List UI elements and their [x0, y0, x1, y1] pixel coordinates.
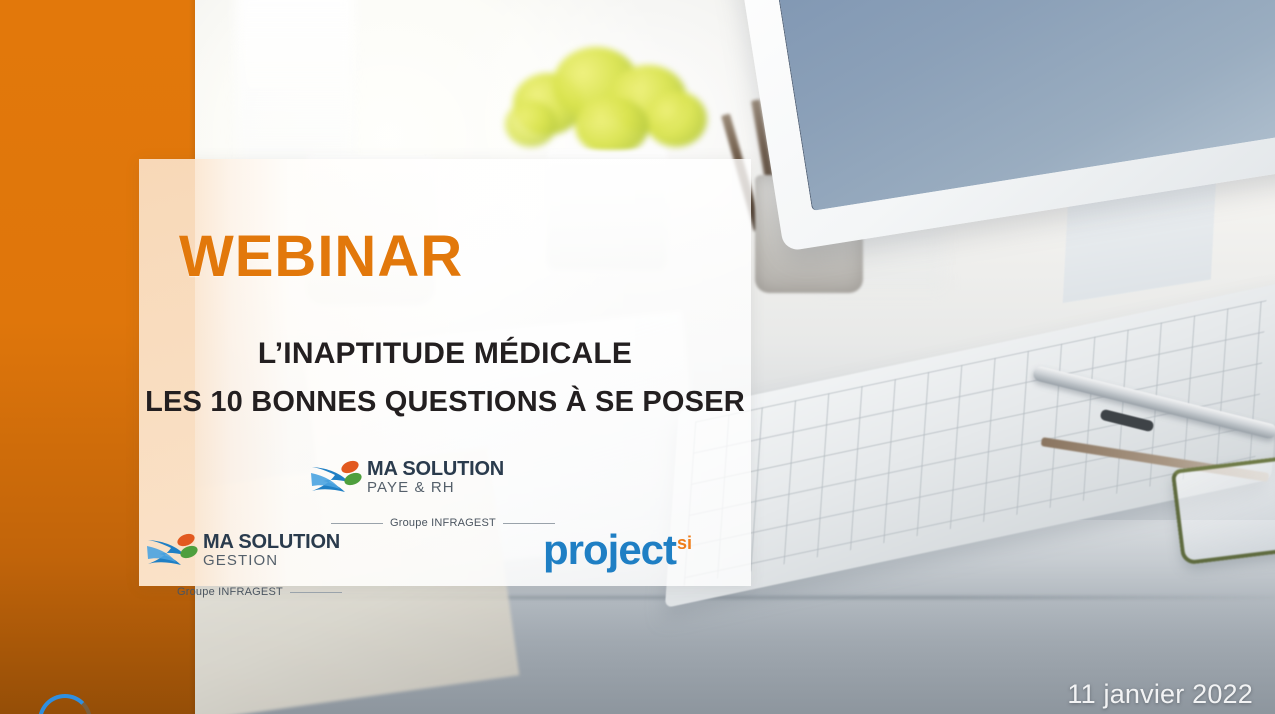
logo-gestion-line1: MA SOLUTION [203, 532, 340, 553]
eyeglasses [1170, 440, 1275, 600]
logo-paye-rh-line2: PAYE & RH [367, 480, 504, 497]
logo-ma-solution-paye-rh: MA SOLUTION PAYE & RH [309, 459, 504, 505]
video-player-frame: WEBINAR L’INAPTITUDE MÉDICALE LES 10 BON… [0, 0, 1275, 714]
logo-project-superscript: si [677, 533, 692, 553]
video-date-stamp: 11 janvier 2022 [1067, 679, 1253, 710]
slide-title-sub: LES 10 BONNES QUESTIONS À SE POSER [139, 386, 751, 419]
logo-paye-rh-line1: MA SOLUTION [367, 459, 504, 480]
logo-gestion-words: MA SOLUTION GESTION [199, 532, 340, 570]
rule-left [331, 523, 383, 524]
bird-swoosh-icon [309, 459, 363, 505]
logo-paye-rh-group-label: Groupe INFRAGEST [390, 517, 496, 529]
logo-gestion-group-label: Groupe INFRAGEST [177, 586, 283, 598]
rule-right [290, 592, 342, 593]
logo-gestion-group: Groupe INFRAGEST [177, 586, 342, 598]
monitor-screen [770, 0, 1275, 211]
logo-paye-rh-group: Groupe INFRAGEST [331, 517, 555, 529]
rule-right [503, 523, 555, 524]
slide-eyebrow-webinar: WEBINAR [179, 228, 463, 286]
bird-swoosh-icon [145, 532, 199, 578]
logo-paye-rh-words: MA SOLUTION PAYE & RH [363, 459, 504, 497]
logo-project-word: project [543, 526, 676, 573]
eyeglass-lens-left [1171, 455, 1275, 566]
slide-overlay-card: WEBINAR L’INAPTITUDE MÉDICALE LES 10 BON… [139, 159, 751, 586]
slide-title-main: L’INAPTITUDE MÉDICALE [139, 337, 751, 371]
logo-gestion-line2: GESTION [203, 553, 340, 570]
logo-project-si: projectsi [543, 529, 692, 571]
logo-ma-solution-gestion: MA SOLUTION GESTION [145, 532, 340, 578]
